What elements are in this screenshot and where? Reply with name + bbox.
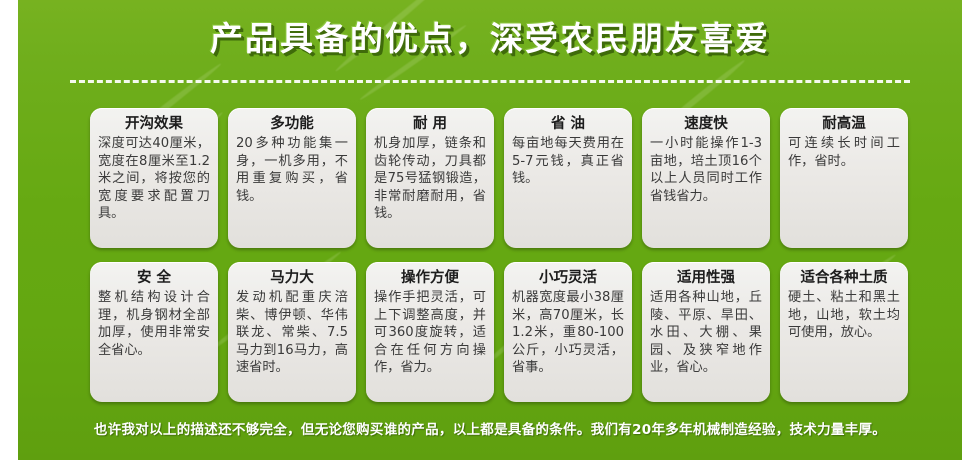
footer-text: 也许我对以上的描述还不够完全，但无论您购买谁的产品，以上都是具备的条件。我们有2… [94,418,886,438]
feature-card-title: 开沟效果 [98,115,210,133]
feature-card-body: 硬土、粘土和黑土地，山地，软土均可使用，放心。 [788,289,900,342]
feature-card-title: 耐 用 [374,115,486,133]
feature-card-title: 速度快 [650,115,762,133]
feature-card-body: 整机结构设计合理，机身钢材全部加厚，使用非常安全省心。 [98,289,210,359]
feature-card-body: 机器宽度最小38厘米，高70厘米，长1.2米，重80-100公斤，小巧灵活，省事… [512,289,624,377]
feature-card[interactable]: 多功能 20多种功能集一身，一机多用，不用重复购买，省钱。 [228,108,356,248]
feature-card-title: 多功能 [236,115,348,133]
feature-card-body: 机身加厚，链条和齿轮传动，刀具都是75号猛钢锻造，非常耐磨耐用，省钱。 [374,135,486,223]
feature-card-body: 每亩地每天费用在5-7元钱，真正省钱。 [512,135,624,188]
feature-card-title: 省 油 [512,115,624,133]
feature-card-body: 操作手把灵活，可上下调整高度，并可360度旋转，适合在任何方向操作，省力。 [374,289,486,377]
feature-card[interactable]: 开沟效果 深度可达40厘米，宽度在8厘米至1.2米之间，将按您的宽度要求配置刀具… [90,108,218,248]
feature-card[interactable]: 速度快 一小时能操作1-3亩地，培土顶16个以上人员同时工作省钱省力。 [642,108,770,248]
feature-card-title: 耐高温 [788,115,900,133]
feature-card-title: 安 全 [98,269,210,287]
feature-card[interactable]: 适用性强 适用各种山地，丘陵、平原、旱田、水田、大棚、果园、及狭窄地作业，省心。 [642,262,770,402]
feature-card-body: 适用各种山地，丘陵、平原、旱田、水田、大棚、果园、及狭窄地作业，省心。 [650,289,762,377]
feature-card[interactable]: 操作方便 操作手把灵活，可上下调整高度，并可360度旋转，适合在任何方向操作，省… [366,262,494,402]
feature-card[interactable]: 马力大 发动机配重庆涪柴、博伊顿、华伟联龙、常柴、7.5马力到16马力，高速省时… [228,262,356,402]
feature-card-title: 适用性强 [650,269,762,287]
green-panel: 产品具备的优点，深受农民朋友喜爱 开沟效果 深度可达40厘米，宽度在8厘米至1.… [18,0,962,460]
infographic-root: 产品具备的优点，深受农民朋友喜爱 开沟效果 深度可达40厘米，宽度在8厘米至1.… [0,0,980,460]
feature-card[interactable]: 安 全 整机结构设计合理，机身钢材全部加厚，使用非常安全省心。 [90,262,218,402]
feature-card[interactable]: 适合各种土质 硬土、粘土和黑土地，山地，软土均可使用，放心。 [780,262,908,402]
feature-card[interactable]: 耐 用 机身加厚，链条和齿轮传动，刀具都是75号猛钢锻造，非常耐磨耐用，省钱。 [366,108,494,248]
feature-card-title: 马力大 [236,269,348,287]
feature-card-body: 一小时能操作1-3亩地，培土顶16个以上人员同时工作省钱省力。 [650,135,762,205]
feature-card-body: 深度可达40厘米，宽度在8厘米至1.2米之间，将按您的宽度要求配置刀具。 [98,135,210,223]
feature-card-title: 操作方便 [374,269,486,287]
feature-card-body: 可连续长时间工作，省时。 [788,135,900,170]
feature-grid: 开沟效果 深度可达40厘米，宽度在8厘米至1.2米之间，将按您的宽度要求配置刀具… [18,0,962,460]
feature-card-title: 适合各种土质 [788,269,900,287]
feature-card[interactable]: 小巧灵活 机器宽度最小38厘米，高70厘米，长1.2米，重80-100公斤，小巧… [504,262,632,402]
feature-card-body: 20多种功能集一身，一机多用，不用重复购买，省钱。 [236,135,348,205]
footer-bar: 也许我对以上的描述还不够完全，但无论您购买谁的产品，以上都是具备的条件。我们有2… [18,418,962,438]
feature-card-title: 小巧灵活 [512,269,624,287]
feature-card[interactable]: 省 油 每亩地每天费用在5-7元钱，真正省钱。 [504,108,632,248]
feature-card-body: 发动机配重庆涪柴、博伊顿、华伟联龙、常柴、7.5马力到16马力，高速省时。 [236,289,348,377]
feature-card[interactable]: 耐高温 可连续长时间工作，省时。 [780,108,908,248]
